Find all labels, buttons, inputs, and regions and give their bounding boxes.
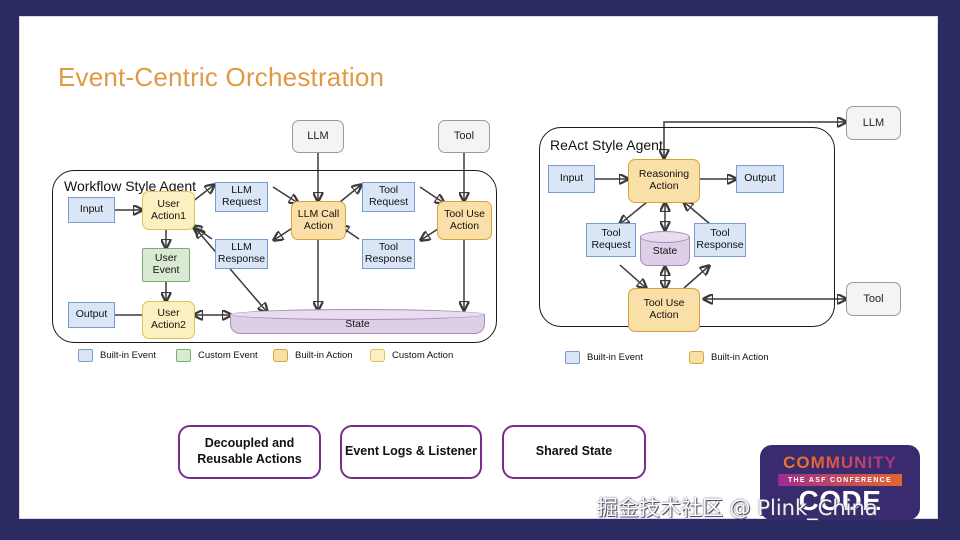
react-node-tool-request[interactable]: Tool Request	[586, 223, 636, 257]
react-external-llm[interactable]: LLM	[846, 106, 901, 140]
react-external-tool[interactable]: Tool	[846, 282, 901, 316]
legend-swatch-builtin-action	[273, 349, 288, 362]
legend-swatch-custom-action	[370, 349, 385, 362]
workflow-legend-item-2: Built-in Action	[273, 349, 353, 362]
workflow-node-output[interactable]: Output	[68, 302, 115, 328]
workflow-node-state[interactable]: State	[230, 309, 485, 334]
react-legend-swatch-builtin-event	[565, 351, 580, 364]
legend-label-builtin-event: Built-in Event	[100, 350, 156, 361]
react-node-reasoning-action[interactable]: Reasoning Action	[628, 159, 700, 203]
react-legend-item-1: Built-in Action	[689, 351, 769, 364]
workflow-node-llm-request[interactable]: LLM Request	[215, 182, 268, 212]
logo-tagline-text: THE ASF CONFERENCE	[788, 477, 892, 484]
workflow-legend-item-0: Built-in Event	[78, 349, 156, 362]
takeaway-decoupled-reusable-actions[interactable]: Decoupled and Reusable Actions	[178, 425, 321, 479]
workflow-node-input[interactable]: Input	[68, 197, 115, 223]
legend-label-custom-action: Custom Action	[392, 350, 453, 361]
logo-community-text: COMMUNITY	[760, 453, 920, 473]
workflow-node-llm-response[interactable]: LLM Response	[215, 239, 268, 269]
workflow-legend-item-3: Custom Action	[370, 349, 453, 362]
workflow-external-tool[interactable]: Tool	[438, 120, 490, 153]
legend-label-custom-event: Custom Event	[198, 350, 258, 361]
workflow-node-user-action1[interactable]: User Action1	[142, 191, 195, 230]
takeaway-event-logs-listener[interactable]: Event Logs & Listener	[340, 425, 482, 479]
react-legend-label-builtin-action: Built-in Action	[711, 352, 769, 363]
legend-swatch-builtin-event	[78, 349, 93, 362]
workflow-node-tool-use-action[interactable]: Tool Use Action	[437, 201, 492, 240]
workflow-node-tool-response[interactable]: Tool Response	[362, 239, 415, 269]
page-title: Event-Centric Orchestration	[58, 62, 384, 93]
react-node-tool-use-action[interactable]: Tool Use Action	[628, 288, 700, 332]
legend-swatch-custom-event	[176, 349, 191, 362]
workflow-node-user-event[interactable]: User Event	[142, 248, 190, 282]
workflow-node-user-action2[interactable]: User Action2	[142, 301, 195, 339]
react-agent-title: ReAct Style Agent	[550, 137, 663, 153]
react-legend-swatch-builtin-action	[689, 351, 704, 364]
react-legend-label-builtin-event: Built-in Event	[587, 352, 643, 363]
react-node-output[interactable]: Output	[736, 165, 784, 193]
workflow-external-llm[interactable]: LLM	[292, 120, 344, 153]
legend-label-builtin-action: Built-in Action	[295, 350, 353, 361]
watermark: 掘金技术社区 @ Plink_China	[597, 492, 878, 522]
react-legend-item-0: Built-in Event	[565, 351, 643, 364]
slide-canvas: Event-Centric Orchestration	[20, 17, 937, 518]
workflow-node-llm-call-action[interactable]: LLM Call Action	[291, 201, 346, 240]
react-node-state[interactable]: State	[640, 231, 690, 266]
workflow-node-tool-request[interactable]: Tool Request	[362, 182, 415, 212]
workflow-legend-item-1: Custom Event	[176, 349, 258, 362]
takeaway-shared-state[interactable]: Shared State	[502, 425, 646, 479]
react-state-label: State	[640, 231, 690, 266]
react-node-tool-response[interactable]: Tool Response	[694, 223, 746, 257]
react-node-input[interactable]: Input	[548, 165, 595, 193]
workflow-state-label: State	[230, 309, 485, 334]
